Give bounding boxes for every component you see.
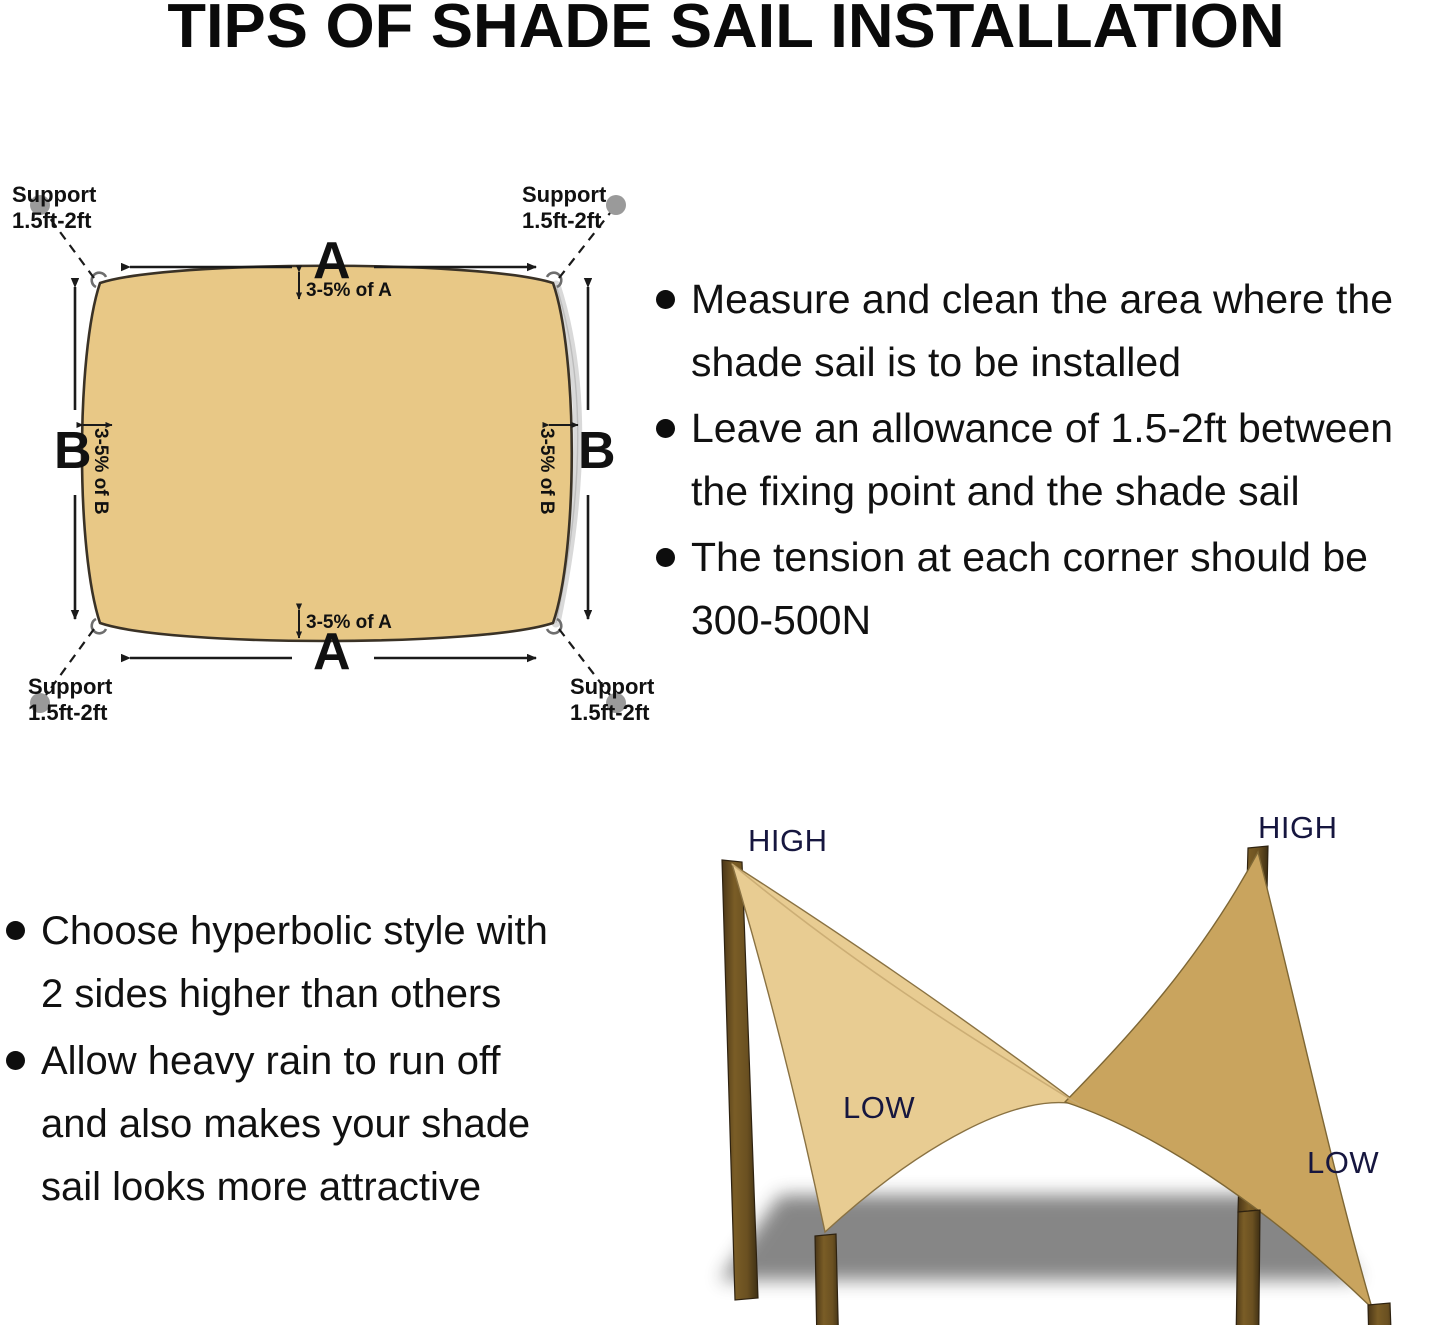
page-title: TIPS OF SHADE SAIL INSTALLATION [0, 0, 1452, 58]
dimension-letter-b-left: B [54, 421, 92, 482]
list-item: Allow heavy rain to run off and also mak… [6, 1030, 636, 1219]
list-item-text: Choose hyperbolic style with 2 sides hig… [41, 900, 548, 1026]
list-item: Choose hyperbolic style with 2 sides hig… [6, 900, 636, 1026]
list-item-line: 300-500N [691, 597, 871, 643]
hyperbolic-tips-list: Choose hyperbolic style with 2 sides hig… [6, 900, 636, 1223]
support-label-line1: Support [570, 674, 654, 700]
sail-body [82, 266, 572, 641]
support-label-bottom-left: Support 1.5ft-2ft [28, 674, 112, 726]
bullet-dot-icon [656, 548, 675, 567]
list-item-line: 2 sides higher than others [41, 972, 501, 1016]
support-label-line2: 1.5ft-2ft [522, 208, 606, 234]
installation-tips-list: Measure and clean the area where the sha… [656, 268, 1452, 655]
list-item-text: The tension at each corner should be 300… [691, 526, 1368, 652]
support-label-line1: Support [522, 182, 606, 208]
post-low-left [815, 1234, 840, 1325]
list-item-line: and also makes your shade [41, 1102, 530, 1146]
list-item: Leave an allowance of 1.5-2ft between th… [656, 397, 1452, 523]
list-item-text: Leave an allowance of 1.5-2ft between th… [691, 397, 1393, 523]
support-label-line1: Support [12, 182, 96, 208]
list-item-line: the fixing point and the shade sail [691, 468, 1300, 514]
label-low-left: LOW [843, 1090, 915, 1126]
support-label-line2: 1.5ft-2ft [28, 700, 112, 726]
list-item: The tension at each corner should be 300… [656, 526, 1452, 652]
label-high-right: HIGH [1258, 810, 1338, 846]
label-high-left: HIGH [748, 823, 828, 859]
list-item-text: Allow heavy rain to run off and also mak… [41, 1030, 530, 1219]
sag-label-bottom: 3-5% of A [306, 612, 392, 634]
list-item-line: Allow heavy rain to run off [41, 1039, 501, 1083]
sail-panel-left [732, 864, 1080, 1232]
bullet-dot-icon [6, 921, 25, 940]
list-item-line: Measure and clean the area where the [691, 276, 1393, 322]
support-label-top-left: Support 1.5ft-2ft [12, 182, 96, 234]
dimension-letter-b-right: B [578, 421, 616, 482]
sag-label-top: 3-5% of A [306, 280, 392, 302]
list-item: Measure and clean the area where the sha… [656, 268, 1452, 394]
list-item-text: Measure and clean the area where the sha… [691, 268, 1393, 394]
sag-label-right: 3-5% of B [535, 428, 557, 515]
support-label-line2: 1.5ft-2ft [12, 208, 96, 234]
post-low-right [1368, 1303, 1396, 1325]
support-label-bottom-right: Support 1.5ft-2ft [570, 674, 654, 726]
bullet-dot-icon [6, 1051, 25, 1070]
list-item-line: The tension at each corner should be [691, 534, 1368, 580]
list-item-line: shade sail is to be installed [691, 339, 1181, 385]
list-item-line: Choose hyperbolic style with [41, 909, 548, 953]
hyperbolic-shade-sail-illustration [660, 800, 1452, 1325]
support-label-line2: 1.5ft-2ft [570, 700, 654, 726]
bullet-dot-icon [656, 419, 675, 438]
label-low-right: LOW [1307, 1145, 1379, 1181]
support-label-line1: Support [28, 674, 112, 700]
list-item-line: Leave an allowance of 1.5-2ft between [691, 405, 1393, 451]
sag-label-left: 3-5% of B [89, 428, 111, 515]
post-mid-right [1235, 1210, 1260, 1325]
support-label-top-right: Support 1.5ft-2ft [522, 182, 606, 234]
bullet-dot-icon [656, 290, 675, 309]
list-item-line: sail looks more attractive [41, 1165, 481, 1209]
